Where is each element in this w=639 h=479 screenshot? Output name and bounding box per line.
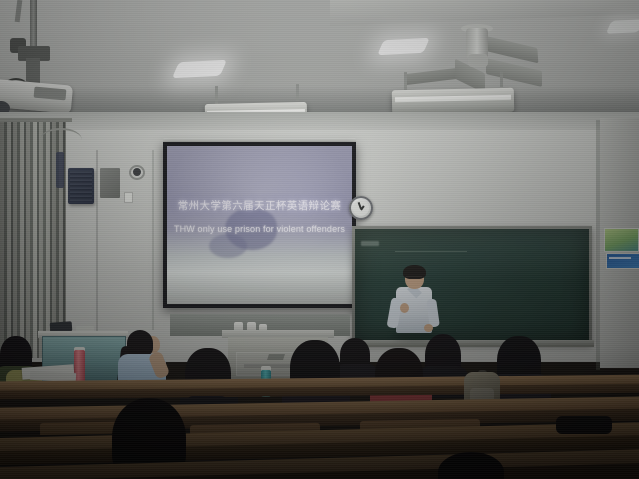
screen-artifact-blob-secondary	[209, 234, 247, 258]
chalk-mark-line	[395, 251, 467, 252]
wall-seam-b	[152, 150, 154, 330]
student-ponytail-hair	[127, 330, 153, 356]
presenter-hand-raised	[400, 303, 409, 313]
poster-green	[604, 228, 639, 252]
projector-screen-surface: 常州大学第六届天正杯英语辩论赛 THW only use prison for …	[167, 146, 352, 304]
presenter-glasses-icon	[406, 276, 422, 280]
curtain-tieback	[56, 152, 64, 188]
wall-seam-a	[96, 150, 98, 350]
wall-upper-trim	[0, 112, 639, 130]
security-camera-lens	[133, 168, 141, 176]
fixture-right-rod-b	[500, 70, 503, 87]
right-wall-corner	[596, 120, 600, 370]
presenter-hand-lower	[424, 324, 433, 332]
poster-blue	[606, 253, 639, 269]
light-switch[interactable]	[124, 192, 133, 203]
wall-control-panel[interactable]	[100, 168, 120, 198]
classroom-photo: 常州大学第六届天正杯英语辩论赛 THW only use prison for …	[0, 0, 639, 479]
chalk-mark-smudge	[361, 241, 379, 246]
fixture-right-rod-a	[404, 72, 407, 90]
chalk-tray	[352, 340, 594, 347]
slide-subtitle-english: THW only use prison for violent offender…	[167, 224, 352, 234]
fixture-left-rod-a	[215, 86, 218, 104]
ceiling-fan-motor-icon	[468, 54, 488, 67]
curtain-rod	[0, 118, 72, 122]
wall-speaker-grill	[70, 171, 92, 201]
slide-title-chinese: 常州大学第六届天正杯英语辩论赛	[167, 198, 352, 213]
blackboard-sheen	[355, 229, 589, 281]
recessed-panel-light-far-icon	[606, 19, 639, 34]
foreground-dark-object	[556, 416, 612, 434]
podium-logo	[267, 354, 285, 360]
poster-blue-text-line	[609, 257, 631, 259]
fixture-left-rod-b	[296, 84, 299, 101]
